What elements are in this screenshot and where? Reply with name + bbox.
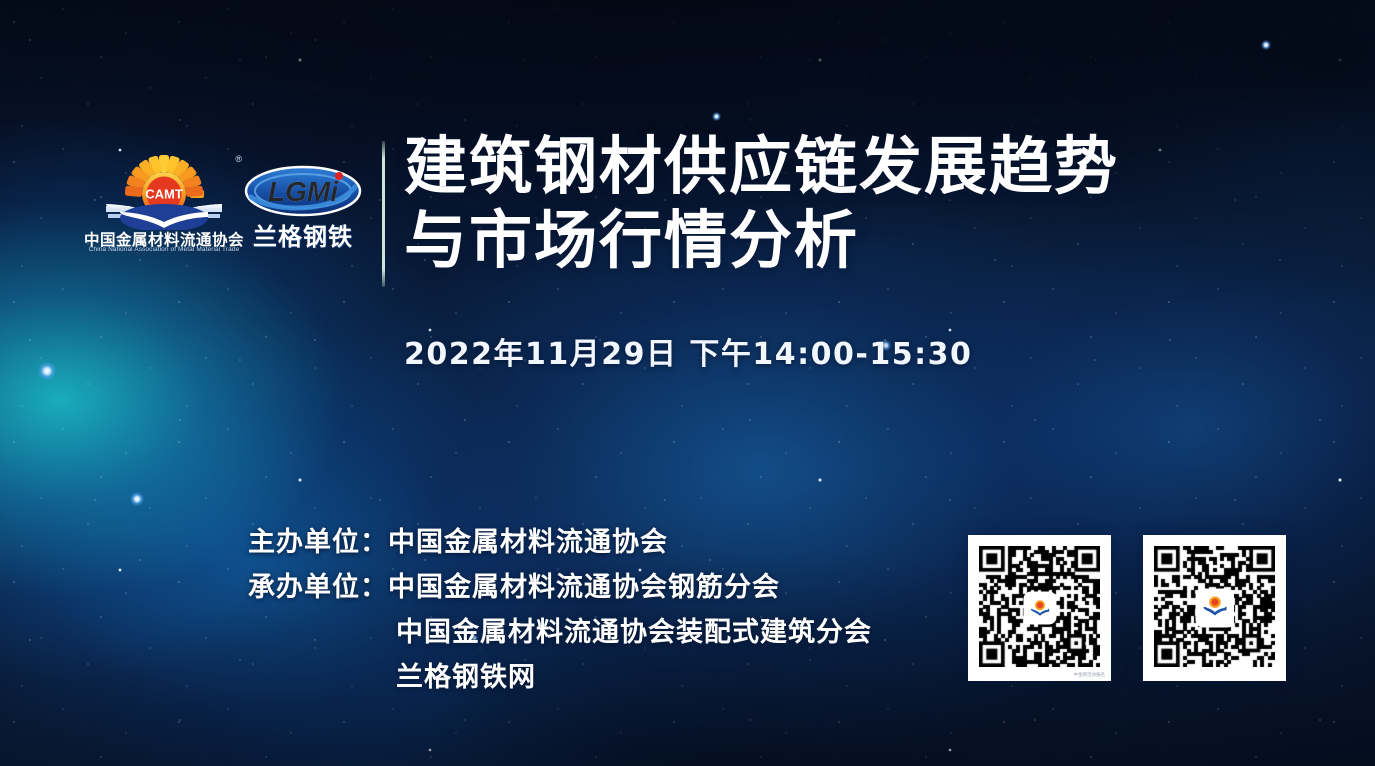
qr-code-primary[interactable]: 中金网活动报名 xyxy=(968,535,1111,681)
page-title: 建筑钢材供应链发展趋势 与市场行情分析 xyxy=(404,130,1119,278)
organizer-line: 主办单位：中国金属材料流通协会 xyxy=(248,520,872,565)
camt-name-en: China National Association of Metal Mate… xyxy=(80,246,248,253)
event-poster: CAMT ® 中国金属材料流通协会 China National Associa… xyxy=(0,0,1375,766)
camt-logo: CAMT ® 中国金属材料流通协会 China National Associa… xyxy=(80,150,248,260)
title-line-1: 建筑钢材供应链发展趋势 xyxy=(404,130,1119,204)
qr-center-badge xyxy=(1025,593,1055,623)
organizer-line: 兰格钢铁网 xyxy=(248,655,872,700)
lgmi-oval-icon: LGMi LGMi xyxy=(243,163,363,219)
camt-logo-badge-icon xyxy=(1200,593,1230,623)
poster-header: CAMT ® 中国金属材料流通协会 China National Associa… xyxy=(0,0,1375,300)
registered-trademark-icon: ® xyxy=(235,154,242,164)
qr-center-badge xyxy=(1197,590,1233,626)
qr-code-secondary[interactable] xyxy=(1143,535,1286,681)
lgmi-logo: LGMi LGMi 兰格钢铁 xyxy=(243,163,363,261)
title-line-2: 与市场行情分析 xyxy=(404,204,1119,278)
lgmi-mark-text: LGMi xyxy=(268,176,339,207)
event-schedule: 2022年11月29日 下午14:00-15:30 xyxy=(404,329,972,373)
lgmi-name-cn: 兰格钢铁 xyxy=(243,217,363,252)
qr-footer-note: 中金网活动报名 xyxy=(1074,672,1106,678)
title-divider xyxy=(382,141,385,287)
organizer-line: 承办单位：中国金属材料流通协会钢筋分会 xyxy=(248,565,872,610)
camt-sunburst-icon: CAMT xyxy=(102,150,226,230)
camt-mark-text: CAMT xyxy=(145,187,183,202)
organizer-block: 主办单位：中国金属材料流通协会 承办单位：中国金属材料流通协会钢筋分会 中国金属… xyxy=(248,520,872,700)
organizer-line: 中国金属材料流通协会装配式建筑分会 xyxy=(248,610,872,655)
camt-logo-badge-icon xyxy=(1029,597,1051,619)
